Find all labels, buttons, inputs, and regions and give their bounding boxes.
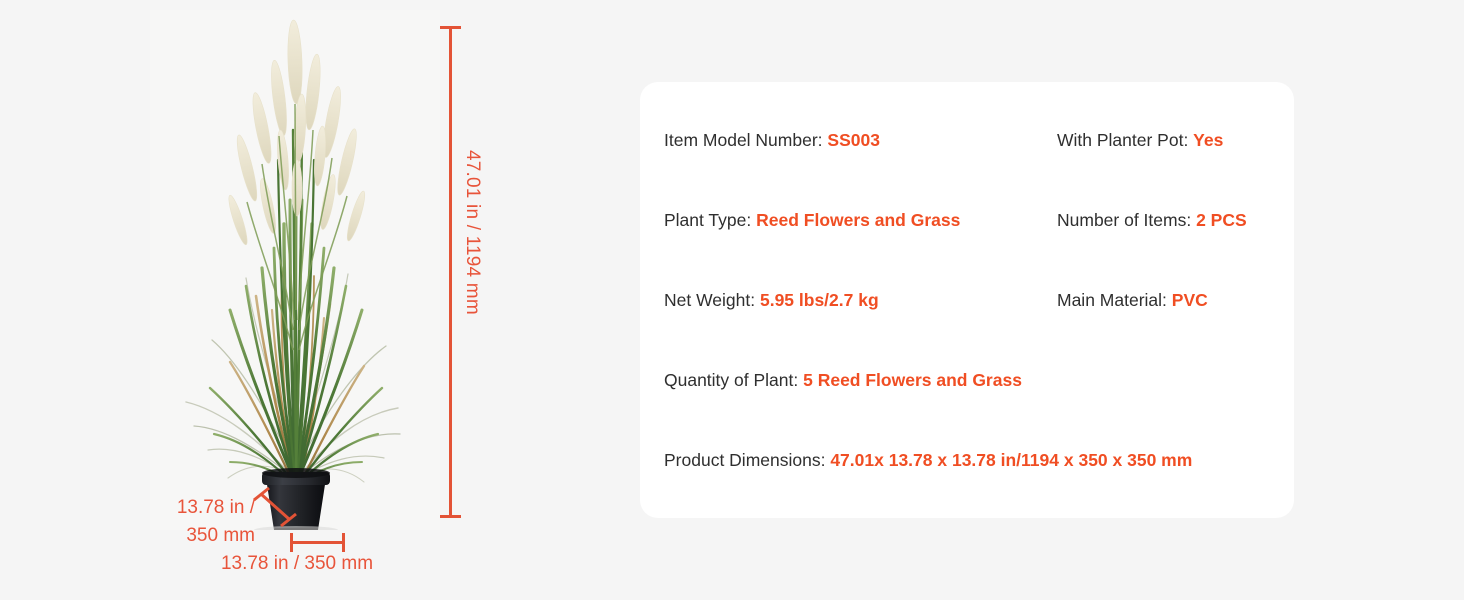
spec-label: Number of Items: [1057,210,1196,230]
spec-value: Reed Flowers and Grass [756,210,960,230]
spec-row: Net Weight: 5.95 lbs/2.7 kg Main Materia… [640,287,1294,313]
spec-value: 2 PCS [1196,210,1247,230]
spec-row: Quantity of Plant: 5 Reed Flowers and Gr… [640,367,1294,393]
spec-value: SS003 [827,130,880,150]
spec-label: Product Dimensions: [664,450,830,470]
width-dimension-cap-left [290,533,293,552]
spec-item-with-planter-pot: With Planter Pot: Yes [1057,127,1223,153]
spec-row: Item Model Number: SS003 With Planter Po… [640,127,1294,153]
spec-item-quantity-of-plant: Quantity of Plant: 5 Reed Flowers and Gr… [664,367,1022,393]
depth-dimension-label-line2: 350 mm [55,522,255,550]
spec-label: Net Weight: [664,290,760,310]
spec-value: Yes [1193,130,1223,150]
height-dimension-cap-top [440,26,461,29]
spec-value: 5 Reed Flowers and Grass [803,370,1022,390]
spec-item-plant-type: Plant Type: Reed Flowers and Grass [664,207,960,233]
width-dimension-label: 13.78 in / 350 mm [197,553,397,575]
spec-label: With Planter Pot: [1057,130,1193,150]
spec-item-number-of-items: Number of Items: 2 PCS [1057,207,1247,233]
spec-label: Item Model Number: [664,130,827,150]
spec-label: Quantity of Plant: [664,370,803,390]
spec-label: Plant Type: [664,210,756,230]
spec-value: PVC [1172,290,1208,310]
width-dimension-cap-right [342,533,345,552]
specification-card: Item Model Number: SS003 With Planter Po… [640,82,1294,518]
height-dimension-cap-bottom [440,515,461,518]
height-dimension-label: 47.01 in / 1194 mm [461,150,483,350]
product-detail-page: 47.01 in / 1194 mm 13.78 in / 350 mm 13.… [0,0,1464,600]
spec-label: Main Material: [1057,290,1172,310]
spec-item-product-dimensions: Product Dimensions: 47.01x 13.78 x 13.78… [664,447,1192,473]
spec-item-main-material: Main Material: PVC [1057,287,1208,313]
product-figure: 47.01 in / 1194 mm 13.78 in / 350 mm 13.… [0,0,620,600]
spec-item-net-weight: Net Weight: 5.95 lbs/2.7 kg [664,287,879,313]
height-dimension-line [449,26,452,518]
spec-value: 47.01x 13.78 x 13.78 in/1194 x 350 x 350… [830,450,1192,470]
depth-dimension-label: 13.78 in / 350 mm [55,494,255,550]
depth-dimension-label-line1: 13.78 in / [55,494,255,522]
plant-image [150,10,440,530]
depth-dimension-line [252,484,302,530]
spec-row: Plant Type: Reed Flowers and Grass Numbe… [640,207,1294,233]
spec-value: 5.95 lbs/2.7 kg [760,290,879,310]
spec-item-item-model-number: Item Model Number: SS003 [664,127,880,153]
spec-row: Product Dimensions: 47.01x 13.78 x 13.78… [640,447,1294,473]
width-dimension-line [291,541,344,544]
